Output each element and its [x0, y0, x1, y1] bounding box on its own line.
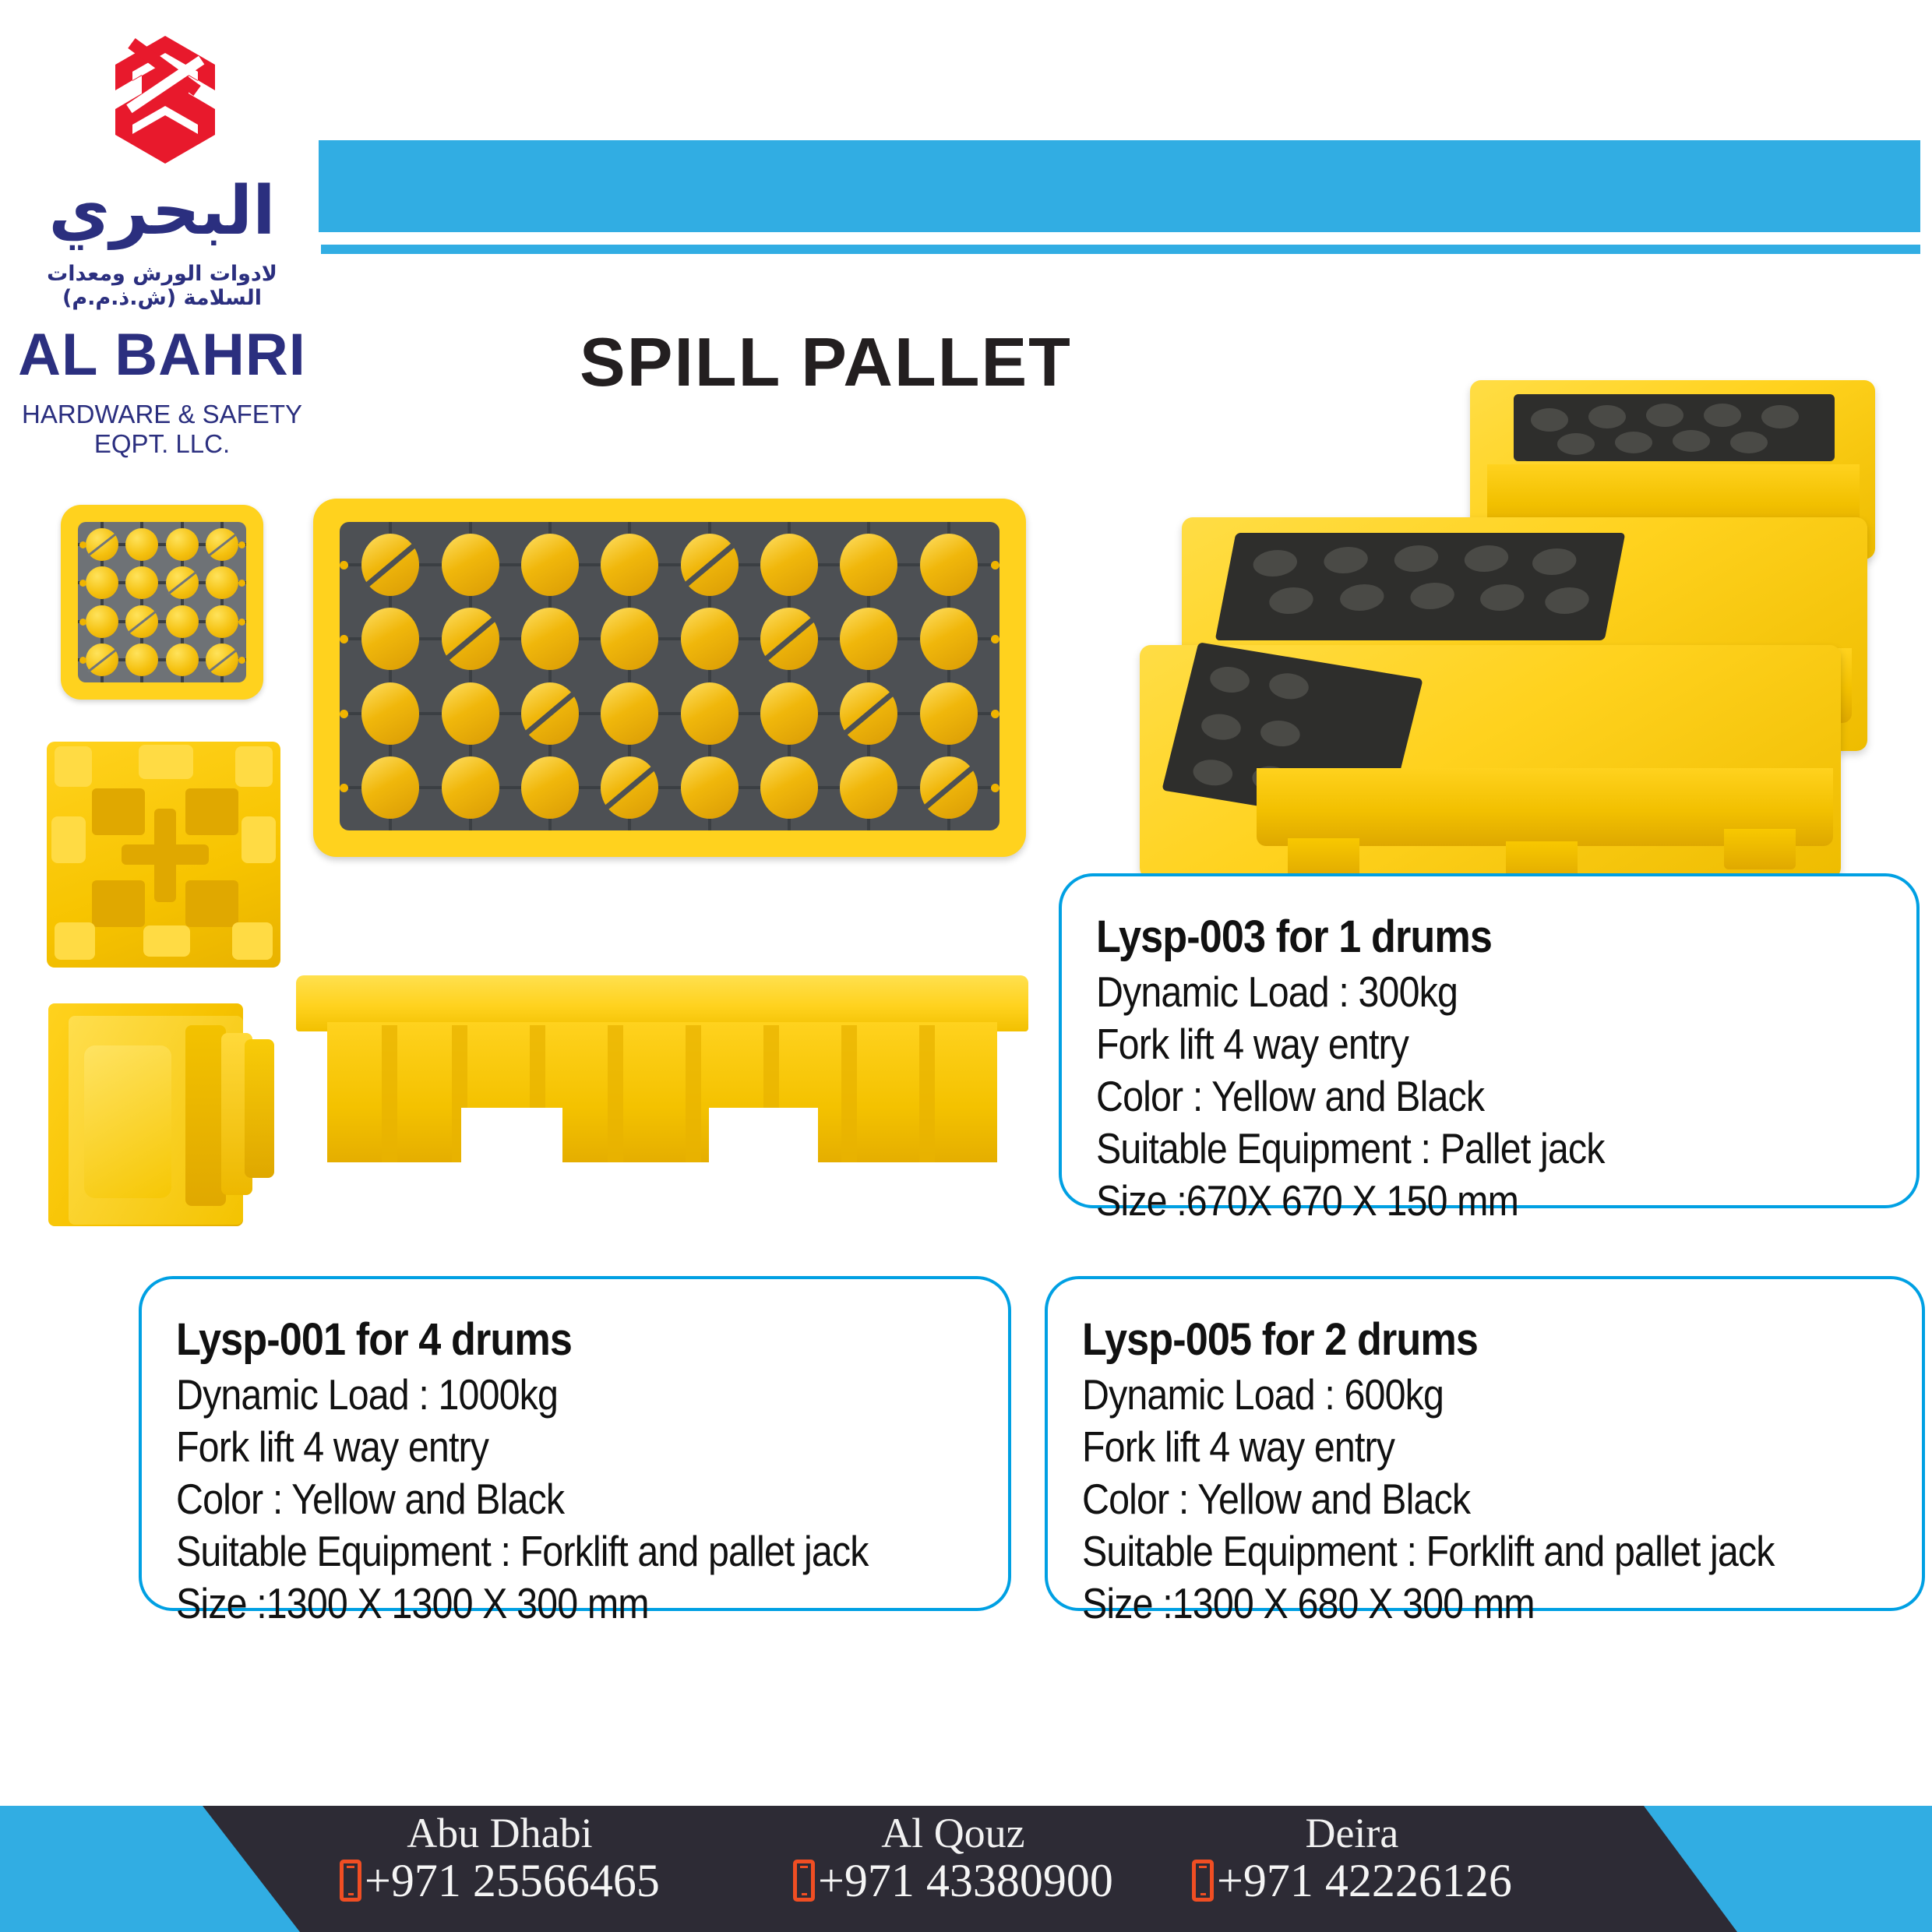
contact-abu-dhabi[interactable]: Abu Dhabi +971 25566465 [340, 1812, 660, 1904]
photo-three-stacked-pallets [1133, 305, 1928, 866]
product-spec-color: Color : Yellow and Black [1082, 1473, 1793, 1525]
product-spec-dynamic-load: Dynamic Load : 300kg [1096, 966, 1790, 1018]
contact-phone-number[interactable]: +971 25566465 [365, 1857, 660, 1904]
product-card-lysp-003[interactable]: Lysp-003 for 1 drums Dynamic Load : 300k… [1059, 873, 1920, 1208]
logo-arabic-tagline: لادوات الورش ومعدات السلامة (ش.ذ.م.م) [6, 262, 318, 310]
mobile-phone-icon [1192, 1860, 1214, 1902]
product-card-lysp-005[interactable]: Lysp-005 for 2 drums Dynamic Load : 600k… [1045, 1276, 1925, 1611]
mobile-phone-icon [793, 1860, 815, 1902]
al-bahri-monogram-icon [98, 33, 231, 173]
contact-city-label: Abu Dhabi [340, 1812, 660, 1854]
product-spec-entry: Fork lift 4 way entry [1082, 1421, 1793, 1473]
product-card-lysp-001[interactable]: Lysp-001 for 4 drums Dynamic Load : 1000… [139, 1276, 1011, 1611]
logo-english-name: AL BAHRI [6, 326, 318, 385]
contact-city-label: Al Qouz [793, 1812, 1113, 1854]
product-card-title: Lysp-005 for 2 drums [1082, 1313, 1810, 1366]
rectangular-grate-surface [340, 522, 999, 830]
product-card-title: Lysp-001 for 4 drums [176, 1313, 897, 1366]
contact-phone-number[interactable]: +971 43380900 [818, 1857, 1113, 1904]
footer: Abu Dhabi +971 25566465 Al Qouz +971 433… [0, 1806, 1932, 1932]
pallet-grating-top [1514, 394, 1835, 461]
product-spec-entry: Fork lift 4 way entry [1096, 1018, 1790, 1070]
product-spec-dynamic-load: Dynamic Load : 600kg [1082, 1369, 1793, 1421]
header-accent-rule [321, 245, 1920, 254]
product-spec-size: Size :670X 670 X 150 mm [1096, 1175, 1790, 1227]
product-spec-equipment: Suitable Equipment : Forklift and pallet… [176, 1525, 881, 1578]
product-card-title: Lysp-003 for 1 drums [1096, 911, 1807, 963]
logo-arabic-name: البحري [6, 178, 318, 245]
photo-rectangular-grate-pallet [313, 499, 1026, 857]
footer-contacts: Abu Dhabi +971 25566465 Al Qouz +971 433… [0, 1806, 1932, 1932]
product-spec-entry: Fork lift 4 way entry [176, 1421, 881, 1473]
product-spec-color: Color : Yellow and Black [1096, 1070, 1790, 1123]
product-spec-size: Size :1300 X 680 X 300 mm [1082, 1578, 1793, 1630]
logo-english-tagline: HARDWARE & SAFETY EQPT. LLC. [6, 400, 318, 459]
product-spec-dynamic-load: Dynamic Load : 1000kg [176, 1369, 881, 1421]
contact-deira[interactable]: Deira +971 42226126 [1192, 1812, 1512, 1904]
product-spec-color: Color : Yellow and Black [176, 1473, 881, 1525]
product-spec-equipment: Suitable Equipment : Pallet jack [1096, 1123, 1790, 1175]
company-logo: البحري لادوات الورش ومعدات السلامة (ش.ذ.… [6, 14, 318, 450]
mobile-phone-icon [340, 1860, 361, 1902]
product-spec-equipment: Suitable Equipment : Forklift and pallet… [1082, 1525, 1793, 1578]
photo-sump-pallet-side [296, 975, 1028, 1232]
contact-city-label: Deira [1192, 1812, 1512, 1854]
photo-square-grate-pallet [61, 505, 263, 700]
flyer-page: البحري لادوات الورش ومعدات السلامة (ش.ذ.… [0, 0, 1932, 1932]
square-grate-surface [78, 522, 246, 682]
photo-pallet-base-front [47, 742, 280, 968]
product-spec-size: Size :1300 X 1300 X 300 mm [176, 1578, 881, 1630]
contact-phone-number[interactable]: +971 42226126 [1217, 1857, 1512, 1904]
contact-al-qouz[interactable]: Al Qouz +971 43380900 [793, 1812, 1113, 1904]
photo-stacked-side-pallets [37, 999, 287, 1256]
header-accent-bar [319, 140, 1920, 232]
pallet-grating-middle [1215, 533, 1626, 640]
